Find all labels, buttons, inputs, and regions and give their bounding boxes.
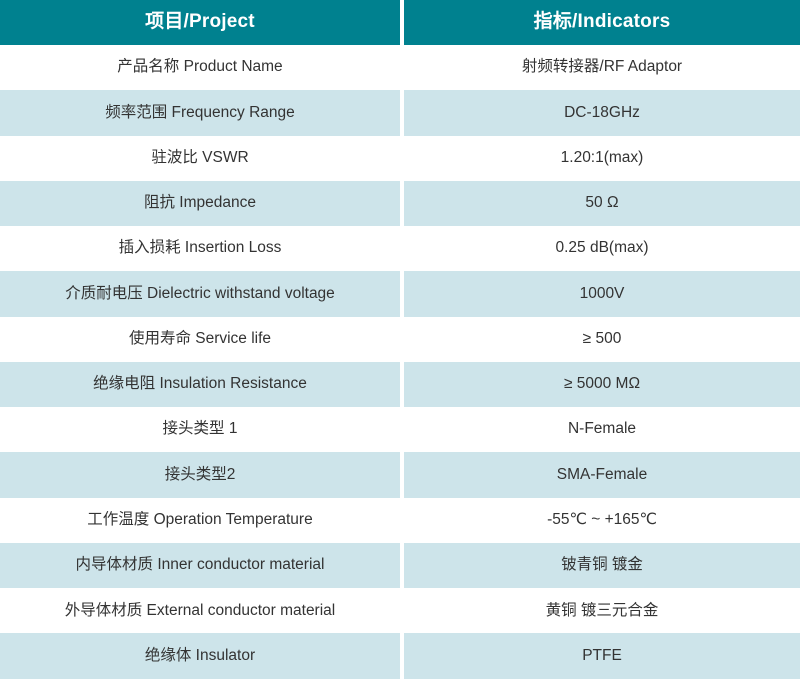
row-cell-indicator: 铍青铜 镀金 (404, 543, 800, 588)
table-row: 使用寿命 Service life ≥ 500 (0, 317, 800, 362)
column-header-indicators: 指标/Indicators (404, 0, 800, 45)
row-cell-indicator-text: DC-18GHz (556, 104, 648, 123)
row-cell-indicator: 1.20:1(max) (404, 136, 800, 181)
table-row: 绝缘电阻 Insulation Resistance ≥ 5000 MΩ (0, 362, 800, 407)
row-cell-project-text: 接头类型 1 (155, 420, 246, 439)
row-cell-indicator-text: SMA-Female (549, 466, 655, 485)
row-cell-indicator: N-Female (404, 407, 800, 452)
column-header-project-label: 项目/Project (137, 11, 263, 34)
row-cell-project-text: 绝缘电阻 Insulation Resistance (85, 375, 315, 394)
row-cell-project-text: 内导体材质 Inner conductor material (68, 556, 333, 575)
row-cell-project: 插入损耗 Insertion Loss (0, 226, 400, 271)
row-cell-indicator-text: 黄铜 镀三元合金 (538, 602, 667, 621)
column-header-project: 项目/Project (0, 0, 400, 45)
row-cell-project-text: 驻波比 VSWR (143, 149, 256, 168)
row-cell-indicator: 0.25 dB(max) (404, 226, 800, 271)
row-cell-indicator-text: PTFE (574, 647, 630, 666)
row-cell-project: 接头类型2 (0, 452, 400, 497)
row-cell-project: 使用寿命 Service life (0, 317, 400, 362)
table-row: 绝缘体 Insulator PTFE (0, 633, 800, 678)
table-row: 工作温度 Operation Temperature -55℃ ~ +165℃ (0, 498, 800, 543)
row-cell-indicator: ≥ 5000 MΩ (404, 362, 800, 407)
row-cell-indicator: 50 Ω (404, 181, 800, 226)
row-cell-indicator: -55℃ ~ +165℃ (404, 498, 800, 543)
row-cell-indicator-text: 50 Ω (577, 194, 626, 213)
table-row: 接头类型 1 N-Female (0, 407, 800, 452)
table-row: 产品名称 Product Name 射频转接器/RF Adaptor (0, 45, 800, 90)
row-cell-indicator-text: 射频转接器/RF Adaptor (514, 58, 690, 77)
table-row: 频率范围 Frequency Range DC-18GHz (0, 90, 800, 135)
table-row: 插入损耗 Insertion Loss 0.25 dB(max) (0, 226, 800, 271)
row-cell-project: 外导体材质 External conductor material (0, 588, 400, 633)
table-row: 内导体材质 Inner conductor material 铍青铜 镀金 (0, 543, 800, 588)
row-cell-project: 介质耐电压 Dielectric withstand voltage (0, 271, 400, 316)
row-cell-indicator-text: -55℃ ~ +165℃ (539, 511, 665, 530)
row-cell-project-text: 工作温度 Operation Temperature (79, 511, 320, 530)
row-cell-project: 接头类型 1 (0, 407, 400, 452)
table-row: 阻抗 Impedance 50 Ω (0, 181, 800, 226)
row-cell-project: 绝缘体 Insulator (0, 633, 400, 678)
table-row: 接头类型2 SMA-Female (0, 452, 800, 497)
row-cell-indicator: 黄铜 镀三元合金 (404, 588, 800, 633)
row-cell-indicator-text: 1000V (572, 285, 633, 304)
row-cell-indicator-text: ≥ 500 (575, 330, 630, 349)
row-cell-indicator-text: ≥ 5000 MΩ (556, 375, 648, 394)
row-cell-indicator: SMA-Female (404, 452, 800, 497)
row-cell-project-text: 频率范围 Frequency Range (97, 104, 303, 123)
row-cell-indicator-text: 0.25 dB(max) (547, 239, 656, 258)
row-cell-project-text: 阻抗 Impedance (136, 194, 264, 213)
row-cell-project-text: 插入损耗 Insertion Loss (111, 239, 290, 258)
row-cell-project: 绝缘电阻 Insulation Resistance (0, 362, 400, 407)
table-header-row: 项目/Project 指标/Indicators (0, 0, 800, 45)
row-cell-project-text: 产品名称 Product Name (109, 58, 290, 77)
row-cell-project-text: 外导体材质 External conductor material (57, 602, 343, 621)
row-cell-project-text: 介质耐电压 Dielectric withstand voltage (57, 285, 343, 304)
column-header-indicators-label: 指标/Indicators (526, 11, 679, 34)
row-cell-project-text: 接头类型2 (157, 466, 244, 485)
row-cell-indicator: 射频转接器/RF Adaptor (404, 45, 800, 90)
table-row: 外导体材质 External conductor material 黄铜 镀三元… (0, 588, 800, 633)
row-cell-project: 频率范围 Frequency Range (0, 90, 400, 135)
row-cell-project: 产品名称 Product Name (0, 45, 400, 90)
row-cell-indicator: 1000V (404, 271, 800, 316)
row-cell-project-text: 绝缘体 Insulator (137, 647, 263, 666)
row-cell-project: 工作温度 Operation Temperature (0, 498, 400, 543)
row-cell-project: 驻波比 VSWR (0, 136, 400, 181)
row-cell-indicator: ≥ 500 (404, 317, 800, 362)
table-row: 介质耐电压 Dielectric withstand voltage 1000V (0, 271, 800, 316)
row-cell-indicator-text: 铍青铜 镀金 (553, 556, 651, 575)
row-cell-indicator-text: N-Female (560, 420, 644, 439)
table-row: 驻波比 VSWR 1.20:1(max) (0, 136, 800, 181)
row-cell-indicator: PTFE (404, 633, 800, 678)
specification-table: 项目/Project 指标/Indicators 产品名称 Product Na… (0, 0, 800, 679)
row-cell-project-text: 使用寿命 Service life (121, 330, 279, 349)
row-cell-project: 阻抗 Impedance (0, 181, 400, 226)
row-cell-indicator: DC-18GHz (404, 90, 800, 135)
row-cell-project: 内导体材质 Inner conductor material (0, 543, 400, 588)
row-cell-indicator-text: 1.20:1(max) (553, 149, 652, 168)
